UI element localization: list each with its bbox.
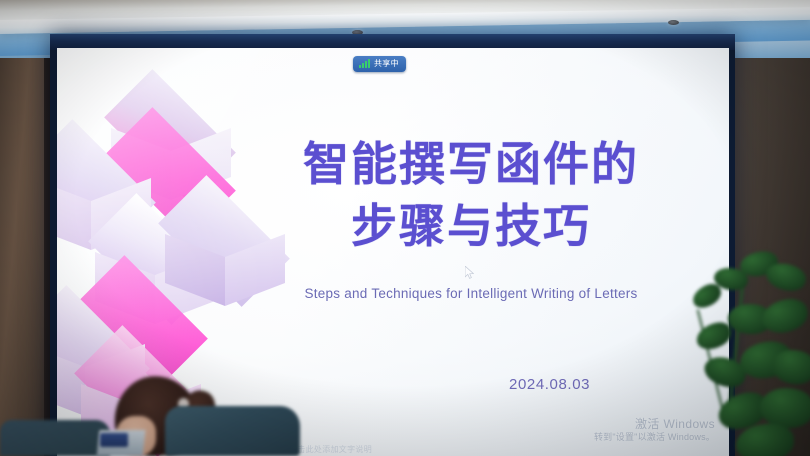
slide-title: 智能撰写函件的 步骤与技巧 <box>241 134 701 257</box>
ceiling-spotlight <box>668 20 679 25</box>
plant-leaf <box>759 296 810 337</box>
screenshot-root: 共享中 <box>0 0 810 456</box>
signal-bars-icon <box>359 59 370 68</box>
slide-subtitle: Steps and Techniques for Intelligent Wri… <box>241 286 701 301</box>
slide-title-line-1: 智能撰写函件的 <box>241 134 701 196</box>
screen-sharing-badge[interactable]: 共享中 <box>353 56 406 72</box>
slide-bottom-note: 点击此处添加文字说明 <box>289 444 372 455</box>
potted-plant <box>688 238 810 456</box>
slide-title-line-2: 步骤与技巧 <box>241 196 701 258</box>
mouse-cursor-icon <box>465 266 474 279</box>
office-chair-back <box>165 406 300 456</box>
chair-back-left <box>0 420 110 456</box>
laptop-screen <box>100 433 128 447</box>
slide-date: 2024.08.03 <box>509 376 590 393</box>
share-badge-label: 共享中 <box>374 58 399 69</box>
